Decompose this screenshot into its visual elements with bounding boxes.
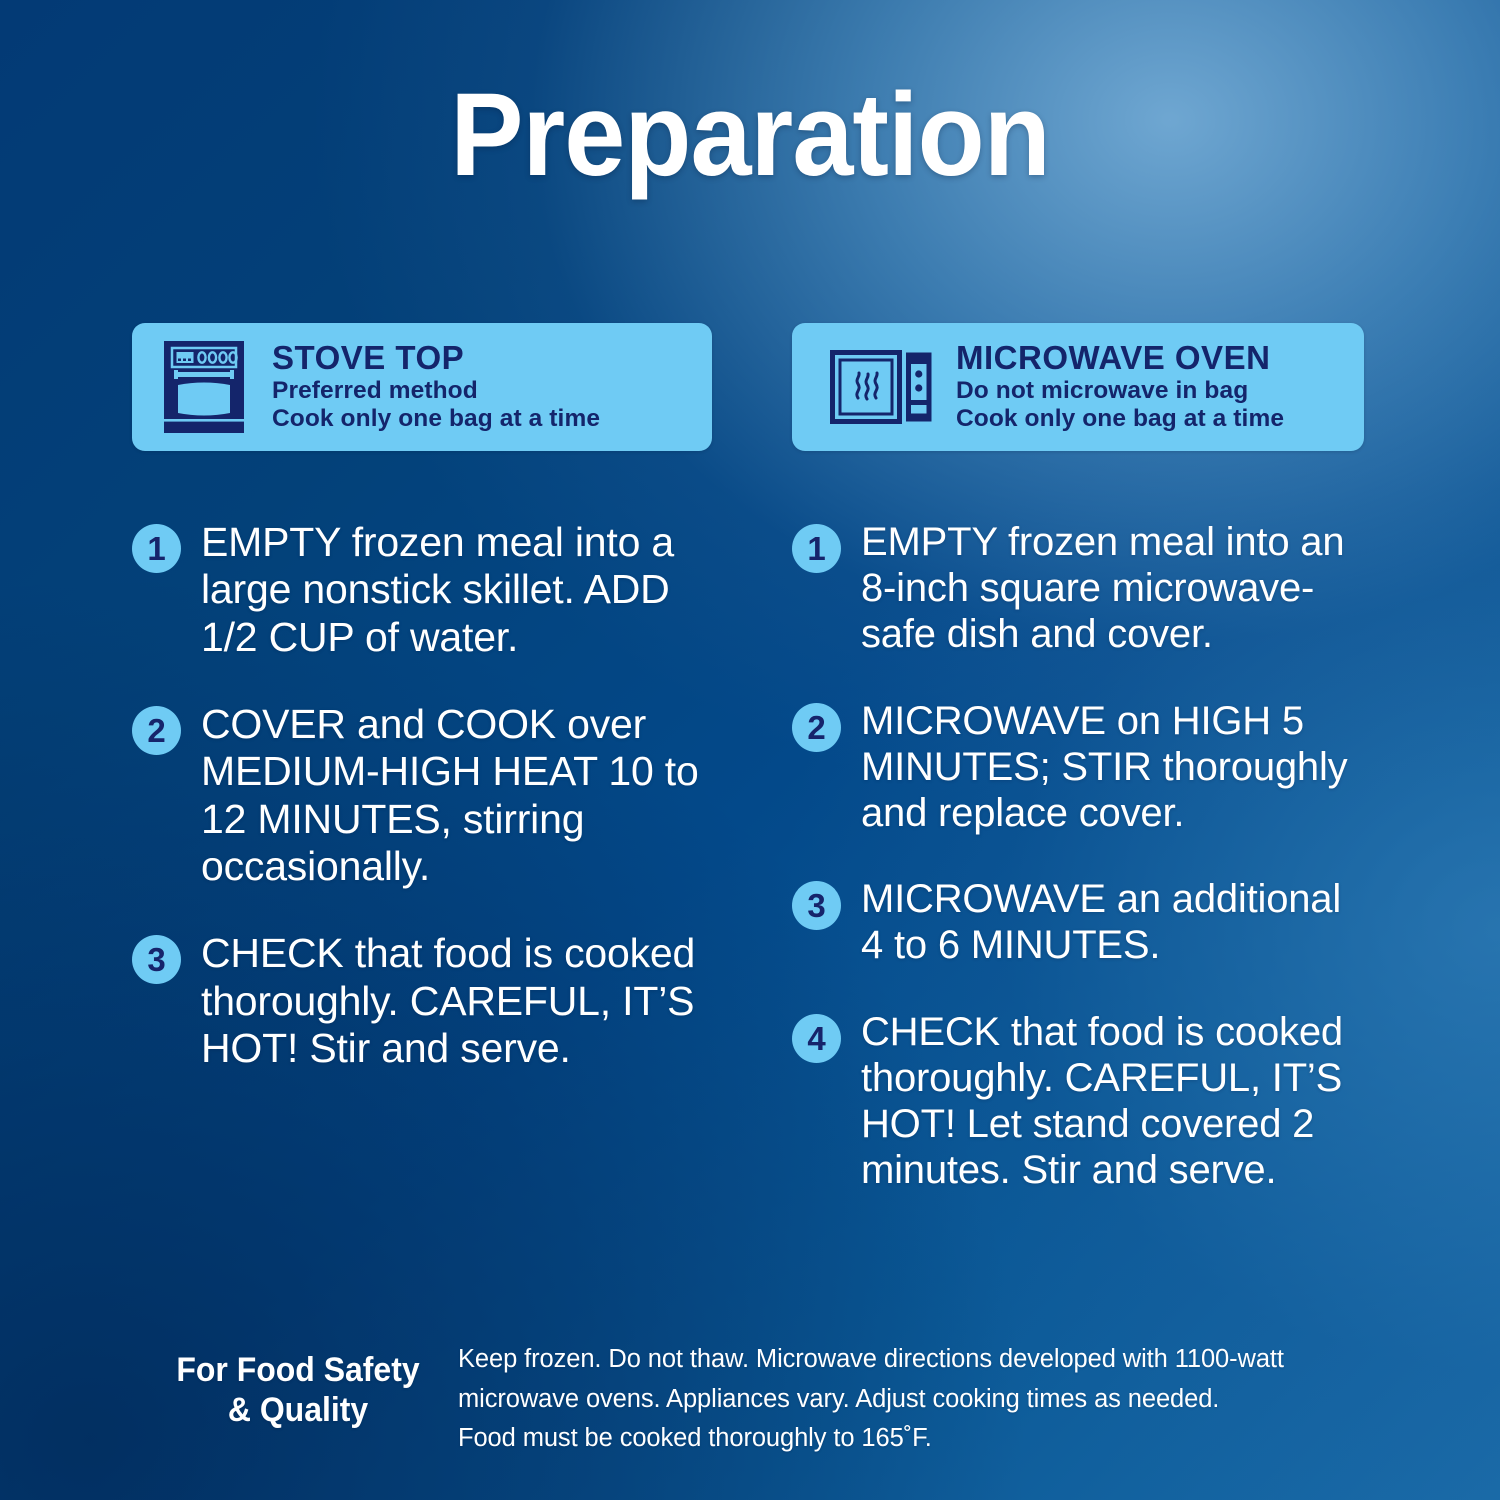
step-text: CHECK that food is cooked thoroughly. CA… [861, 1009, 1364, 1194]
food-safety-body-line-1: Keep frozen. Do not thaw. Microwave dire… [458, 1340, 1398, 1380]
method-header-microwave-oven: MICROWAVE OVEN Do not microwave in bag C… [792, 323, 1364, 451]
step-text: MICROWAVE an additional 4 to 6 MINUTES. [861, 876, 1364, 968]
step-number-badge: 4 [792, 1014, 841, 1063]
food-safety-heading-line-1: For Food Safety [157, 1350, 439, 1390]
page-title: Preparation [53, 76, 1448, 194]
food-safety-heading-line-2: & Quality [157, 1390, 439, 1430]
food-safety-body-line-3: Food must be cooked thoroughly to 165˚F. [458, 1419, 1398, 1459]
method-header-stove-top: STOVE TOP Preferred method Cook only one… [132, 323, 712, 451]
step-text: COVER and COOK over MEDIUM-HIGH HEAT 10 … [201, 701, 712, 890]
step-item: 3 CHECK that food is cooked thoroughly. … [132, 930, 712, 1072]
microwave-icon [830, 350, 934, 424]
step-number-badge: 3 [132, 935, 181, 984]
step-item: 2 COVER and COOK over MEDIUM-HIGH HEAT 1… [132, 701, 712, 890]
step-item: 3 MICROWAVE an additional 4 to 6 MINUTES… [792, 876, 1364, 968]
step-text: EMPTY frozen meal into a large nonstick … [201, 519, 712, 661]
food-safety-heading: For Food Safety & Quality [157, 1340, 439, 1430]
food-safety-body: Keep frozen. Do not thaw. Microwave dire… [448, 1340, 1398, 1459]
food-safety-footer: For Food Safety & Quality Keep frozen. D… [148, 1340, 1398, 1459]
method-subtitle-1: Preferred method [272, 377, 600, 405]
step-number-badge: 1 [132, 524, 181, 573]
step-item: 1 EMPTY frozen meal into an 8-inch squar… [792, 519, 1364, 658]
method-subtitle-2: Cook only one bag at a time [956, 405, 1284, 433]
step-item: 1 EMPTY frozen meal into a large nonstic… [132, 519, 712, 661]
step-text: EMPTY frozen meal into an 8-inch square … [861, 519, 1364, 658]
step-number-badge: 2 [132, 706, 181, 755]
step-item: 4 CHECK that food is cooked thoroughly. … [792, 1009, 1364, 1194]
food-safety-body-line-2: microwave ovens. Appliances vary. Adjust… [458, 1380, 1398, 1420]
steps-list-microwave-oven: 1 EMPTY frozen meal into an 8-inch squar… [792, 451, 1364, 1193]
method-title: STOVE TOP [272, 341, 600, 376]
step-text: MICROWAVE on HIGH 5 MINUTES; STIR thorou… [861, 698, 1364, 837]
method-column-microwave-oven: MICROWAVE OVEN Do not microwave in bag C… [792, 323, 1364, 1193]
stove-icon [162, 339, 246, 435]
step-number-badge: 1 [792, 524, 841, 573]
step-number-badge: 3 [792, 881, 841, 930]
method-title: MICROWAVE OVEN [956, 341, 1284, 376]
method-column-stove-top: STOVE TOP Preferred method Cook only one… [132, 323, 712, 1072]
step-number-badge: 2 [792, 703, 841, 752]
preparation-panel: Preparation [0, 0, 1500, 1500]
step-text: CHECK that food is cooked thoroughly. CA… [201, 930, 712, 1072]
method-subtitle-1: Do not microwave in bag [956, 377, 1284, 405]
steps-list-stove-top: 1 EMPTY frozen meal into a large nonstic… [132, 451, 712, 1072]
step-item: 2 MICROWAVE on HIGH 5 MINUTES; STIR thor… [792, 698, 1364, 837]
method-header-text-microwave-oven: MICROWAVE OVEN Do not microwave in bag C… [956, 341, 1284, 434]
method-header-text-stove-top: STOVE TOP Preferred method Cook only one… [272, 341, 600, 434]
method-subtitle-2: Cook only one bag at a time [272, 405, 600, 433]
